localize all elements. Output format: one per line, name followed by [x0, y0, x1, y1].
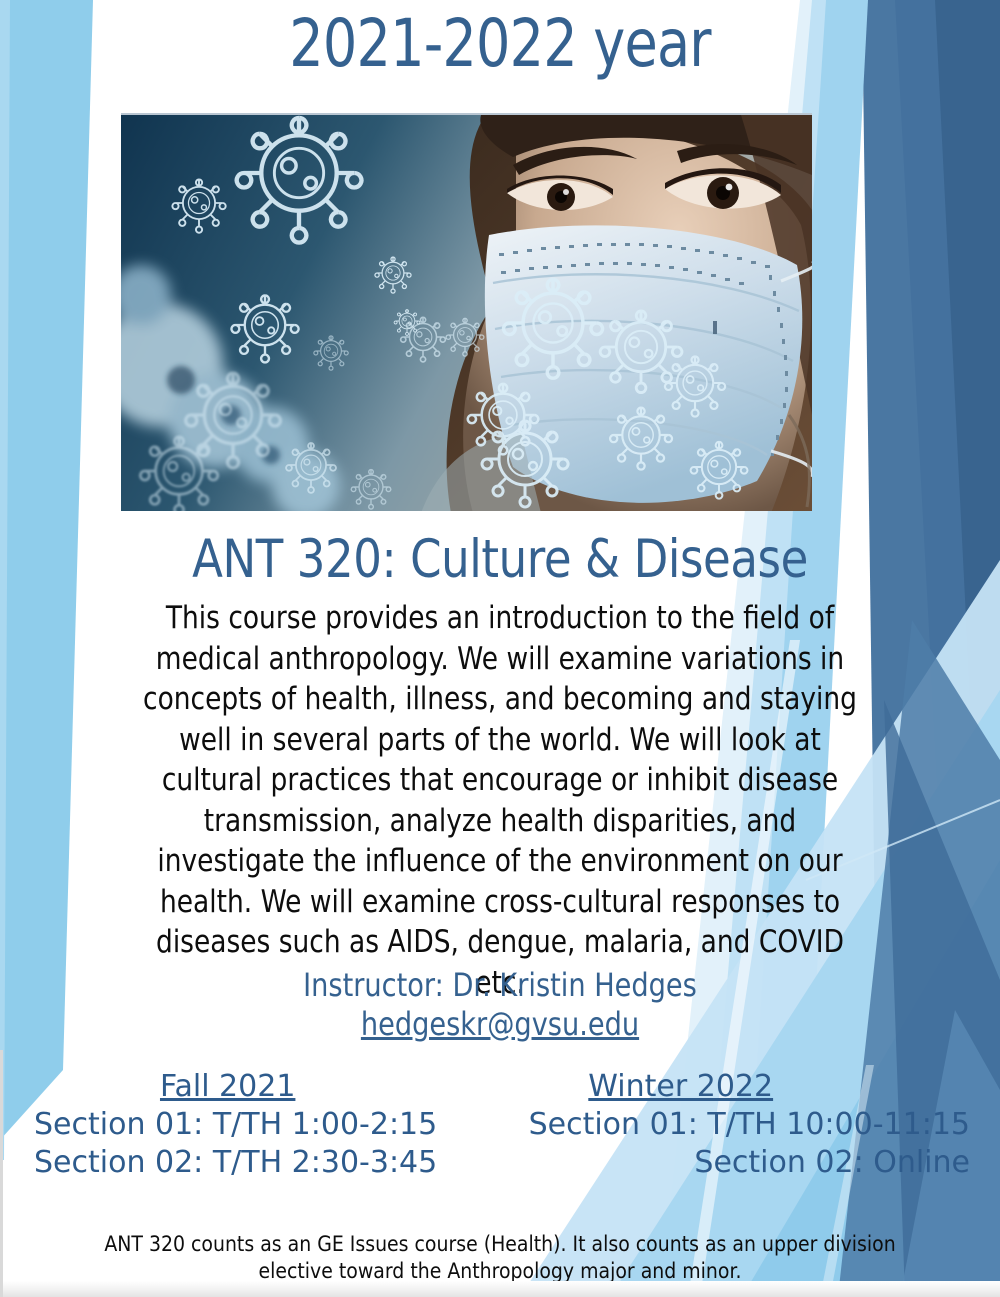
instructor-block: Instructor: Dr. Kristin Hedges hedgeskr@… [75, 966, 925, 1044]
left-edge-line [0, 1050, 3, 1297]
bottom-edge-strip [0, 1281, 1000, 1297]
schedule-section: Fall 2021 Section 01: T/TH 1:00-2:15 Sec… [0, 1068, 1000, 1182]
winter-section-01: Section 01: T/TH 10:00-11:15 [489, 1106, 970, 1144]
schedule-column-winter: Winter 2022 Section 01: T/TH 10:00-11:15… [489, 1068, 1000, 1182]
schedule-column-fall: Fall 2021 Section 01: T/TH 1:00-2:15 Sec… [0, 1068, 489, 1182]
course-description: This course provides an introduction to … [130, 598, 869, 1003]
course-flyer: 2021-2022 year ANT 320: Culture & Diseas… [0, 0, 1000, 1297]
fall-section-01: Section 01: T/TH 1:00-2:15 [34, 1106, 489, 1144]
footer-note: ANT 320 counts as an GE Issues course (H… [95, 1231, 905, 1285]
page-title: 2021-2022 year [90, 9, 910, 78]
course-photo [121, 113, 812, 511]
instructor-name: Instructor: Dr. Kristin Hedges [303, 966, 697, 1004]
fall-term-heading: Fall 2021 [34, 1068, 489, 1106]
fall-section-02: Section 02: T/TH 2:30-3:45 [34, 1144, 489, 1182]
winter-section-02: Section 02: Online [489, 1144, 970, 1182]
instructor-email-link[interactable]: hedgeskr@gvsu.edu [361, 1005, 639, 1043]
course-title: ANT 320: Culture & Disease [75, 531, 925, 589]
photo-illustration [121, 115, 812, 511]
winter-term-heading: Winter 2022 [489, 1068, 970, 1106]
